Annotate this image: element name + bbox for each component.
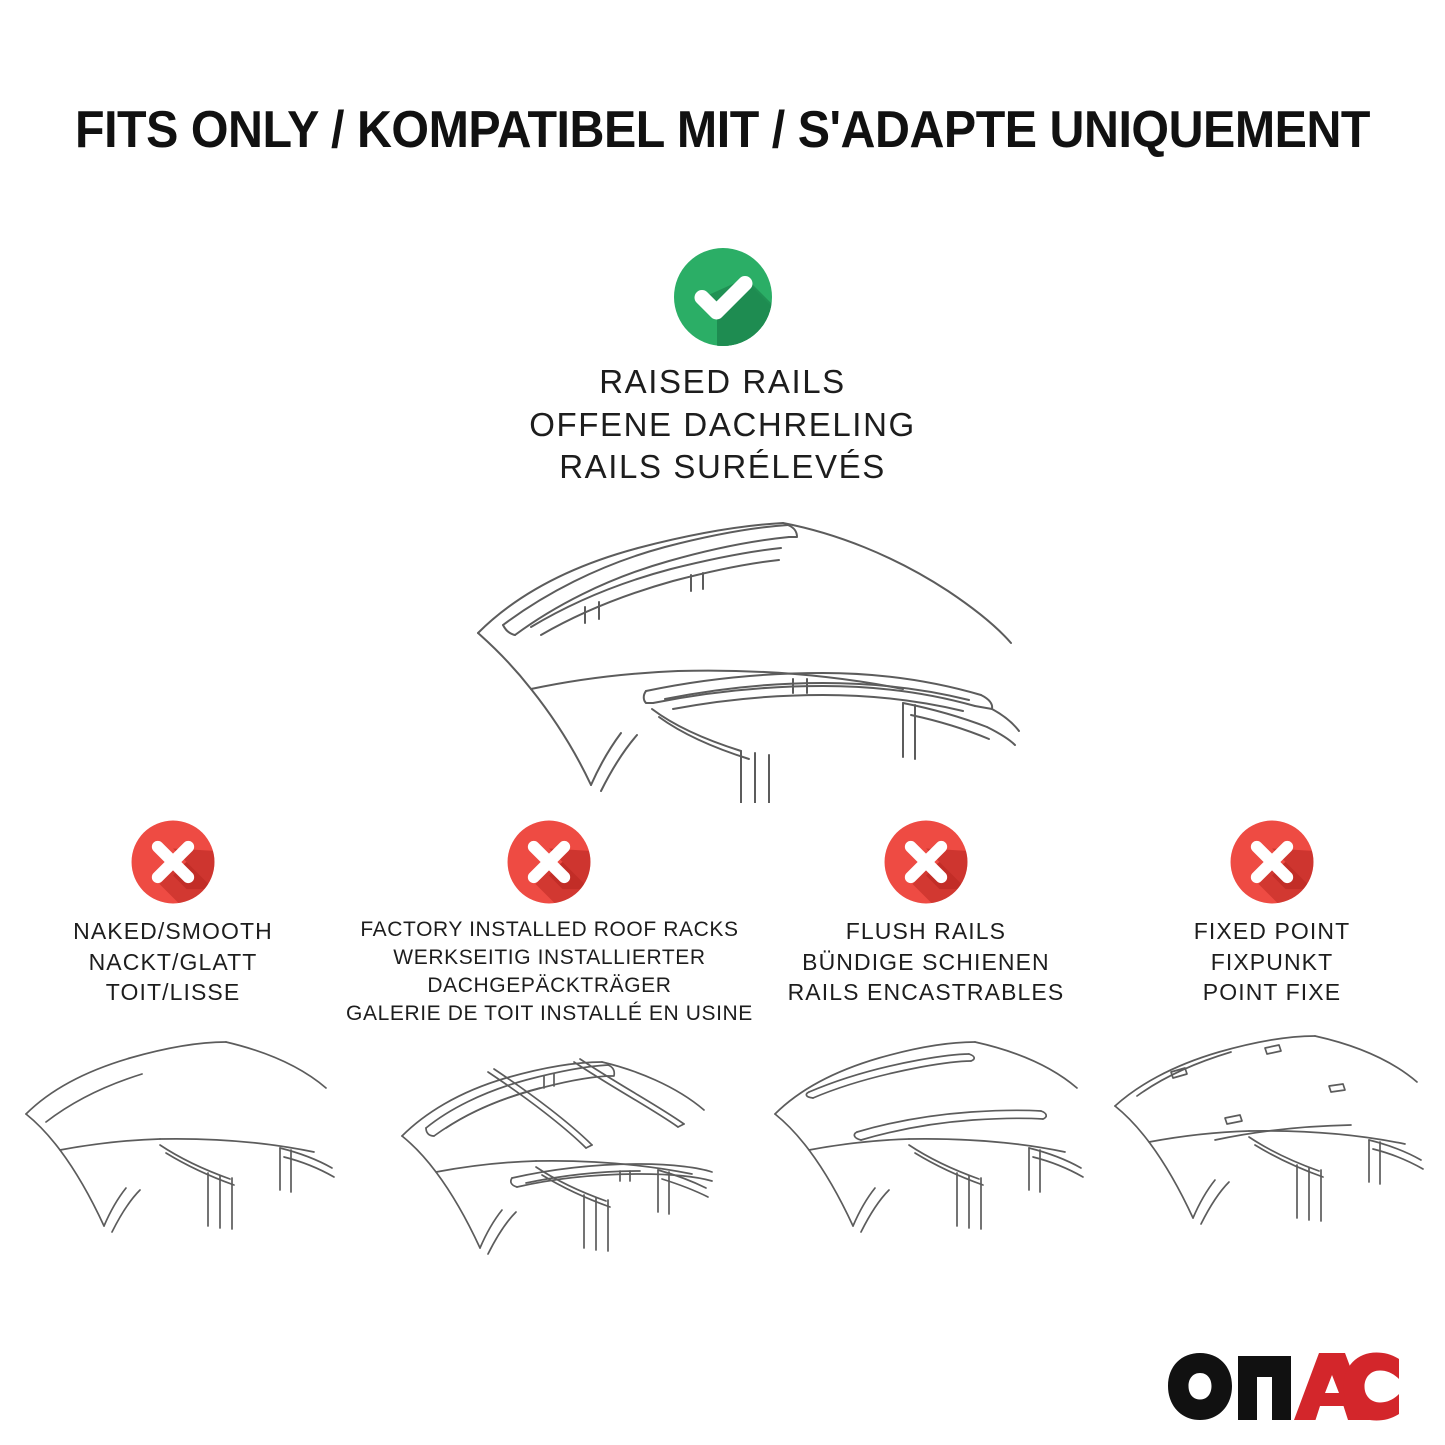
car-roof-naked-smooth-illustration <box>8 1030 338 1245</box>
omac-logo-mark <box>1167 1351 1407 1423</box>
label-de-2: DACHGEPÄCKTRÄGER <box>346 972 753 1000</box>
incompatible-column-factory-roof-racks: FACTORY INSTALLED ROOF RACKS WERKSEITIG … <box>346 818 753 1266</box>
car-roof-fixed-point-illustration <box>1107 1030 1437 1245</box>
label-de: WERKSEITIG INSTALLIERTER <box>346 944 753 972</box>
compatible-label-en: RAISED RAILS <box>0 361 1445 404</box>
incompatible-labels-flush-rails: FLUSH RAILS BÜNDIGE SCHIENEN RAILS ENCAS… <box>788 916 1065 1008</box>
car-roof-flush-rails-illustration <box>761 1030 1091 1245</box>
incompatible-labels-factory-roof-racks: FACTORY INSTALLED ROOF RACKS WERKSEITIG … <box>346 916 753 1028</box>
compatible-labels: RAISED RAILS OFFENE DACHRELING RAILS SUR… <box>0 361 1445 489</box>
label-fr: GALERIE DE TOIT INSTALLÉ EN USINE <box>346 1000 753 1028</box>
label-en: FIXED POINT <box>1194 916 1351 947</box>
omac-logo: OMAC <box>1167 1351 1407 1423</box>
label-de: NACKT/GLATT <box>73 947 273 978</box>
compatible-label-fr: RAILS SURÉLEVÉS <box>0 446 1445 489</box>
label-de: FIXPUNKT <box>1194 947 1351 978</box>
cross-circle-icon <box>129 818 217 906</box>
car-roof-factory-roof-racks-illustration <box>384 1036 714 1266</box>
cross-circle-icon <box>1228 818 1316 906</box>
cross-circle-icon <box>505 818 593 906</box>
label-de: BÜNDIGE SCHIENEN <box>788 947 1065 978</box>
label-fr: POINT FIXE <box>1194 977 1351 1008</box>
incompatible-section: NAKED/SMOOTH NACKT/GLATT TOIT/LISSE <box>0 818 1445 1266</box>
cross-circle-icon <box>882 818 970 906</box>
incompatible-column-naked-smooth: NAKED/SMOOTH NACKT/GLATT TOIT/LISSE <box>0 818 346 1245</box>
incompatible-column-flush-rails: FLUSH RAILS BÜNDIGE SCHIENEN RAILS ENCAS… <box>753 818 1099 1245</box>
label-fr: TOIT/LISSE <box>73 977 273 1008</box>
compatible-label-de: OFFENE DACHRELING <box>0 404 1445 447</box>
check-circle-icon <box>671 245 775 349</box>
logo-letter-o <box>1168 1353 1232 1420</box>
label-en: FLUSH RAILS <box>788 916 1065 947</box>
label-en: NAKED/SMOOTH <box>73 916 273 947</box>
compatible-section: RAISED RAILS OFFENE DACHRELING RAILS SUR… <box>0 245 1445 803</box>
label-en: FACTORY INSTALLED ROOF RACKS <box>346 916 753 944</box>
logo-letter-m <box>1238 1356 1291 1420</box>
car-roof-raised-rails-illustration <box>403 503 1043 803</box>
page-title: FITS ONLY / KOMPATIBEL MIT / S'ADAPTE UN… <box>51 100 1395 160</box>
incompatible-labels-naked-smooth: NAKED/SMOOTH NACKT/GLATT TOIT/LISSE <box>73 916 273 1008</box>
incompatible-labels-fixed-point: FIXED POINT FIXPUNKT POINT FIXE <box>1194 916 1351 1008</box>
incompatible-column-fixed-point: FIXED POINT FIXPUNKT POINT FIXE <box>1099 818 1445 1245</box>
fitment-infographic: FITS ONLY / KOMPATIBEL MIT / S'ADAPTE UN… <box>0 0 1445 1445</box>
label-fr: RAILS ENCASTRABLES <box>788 977 1065 1008</box>
